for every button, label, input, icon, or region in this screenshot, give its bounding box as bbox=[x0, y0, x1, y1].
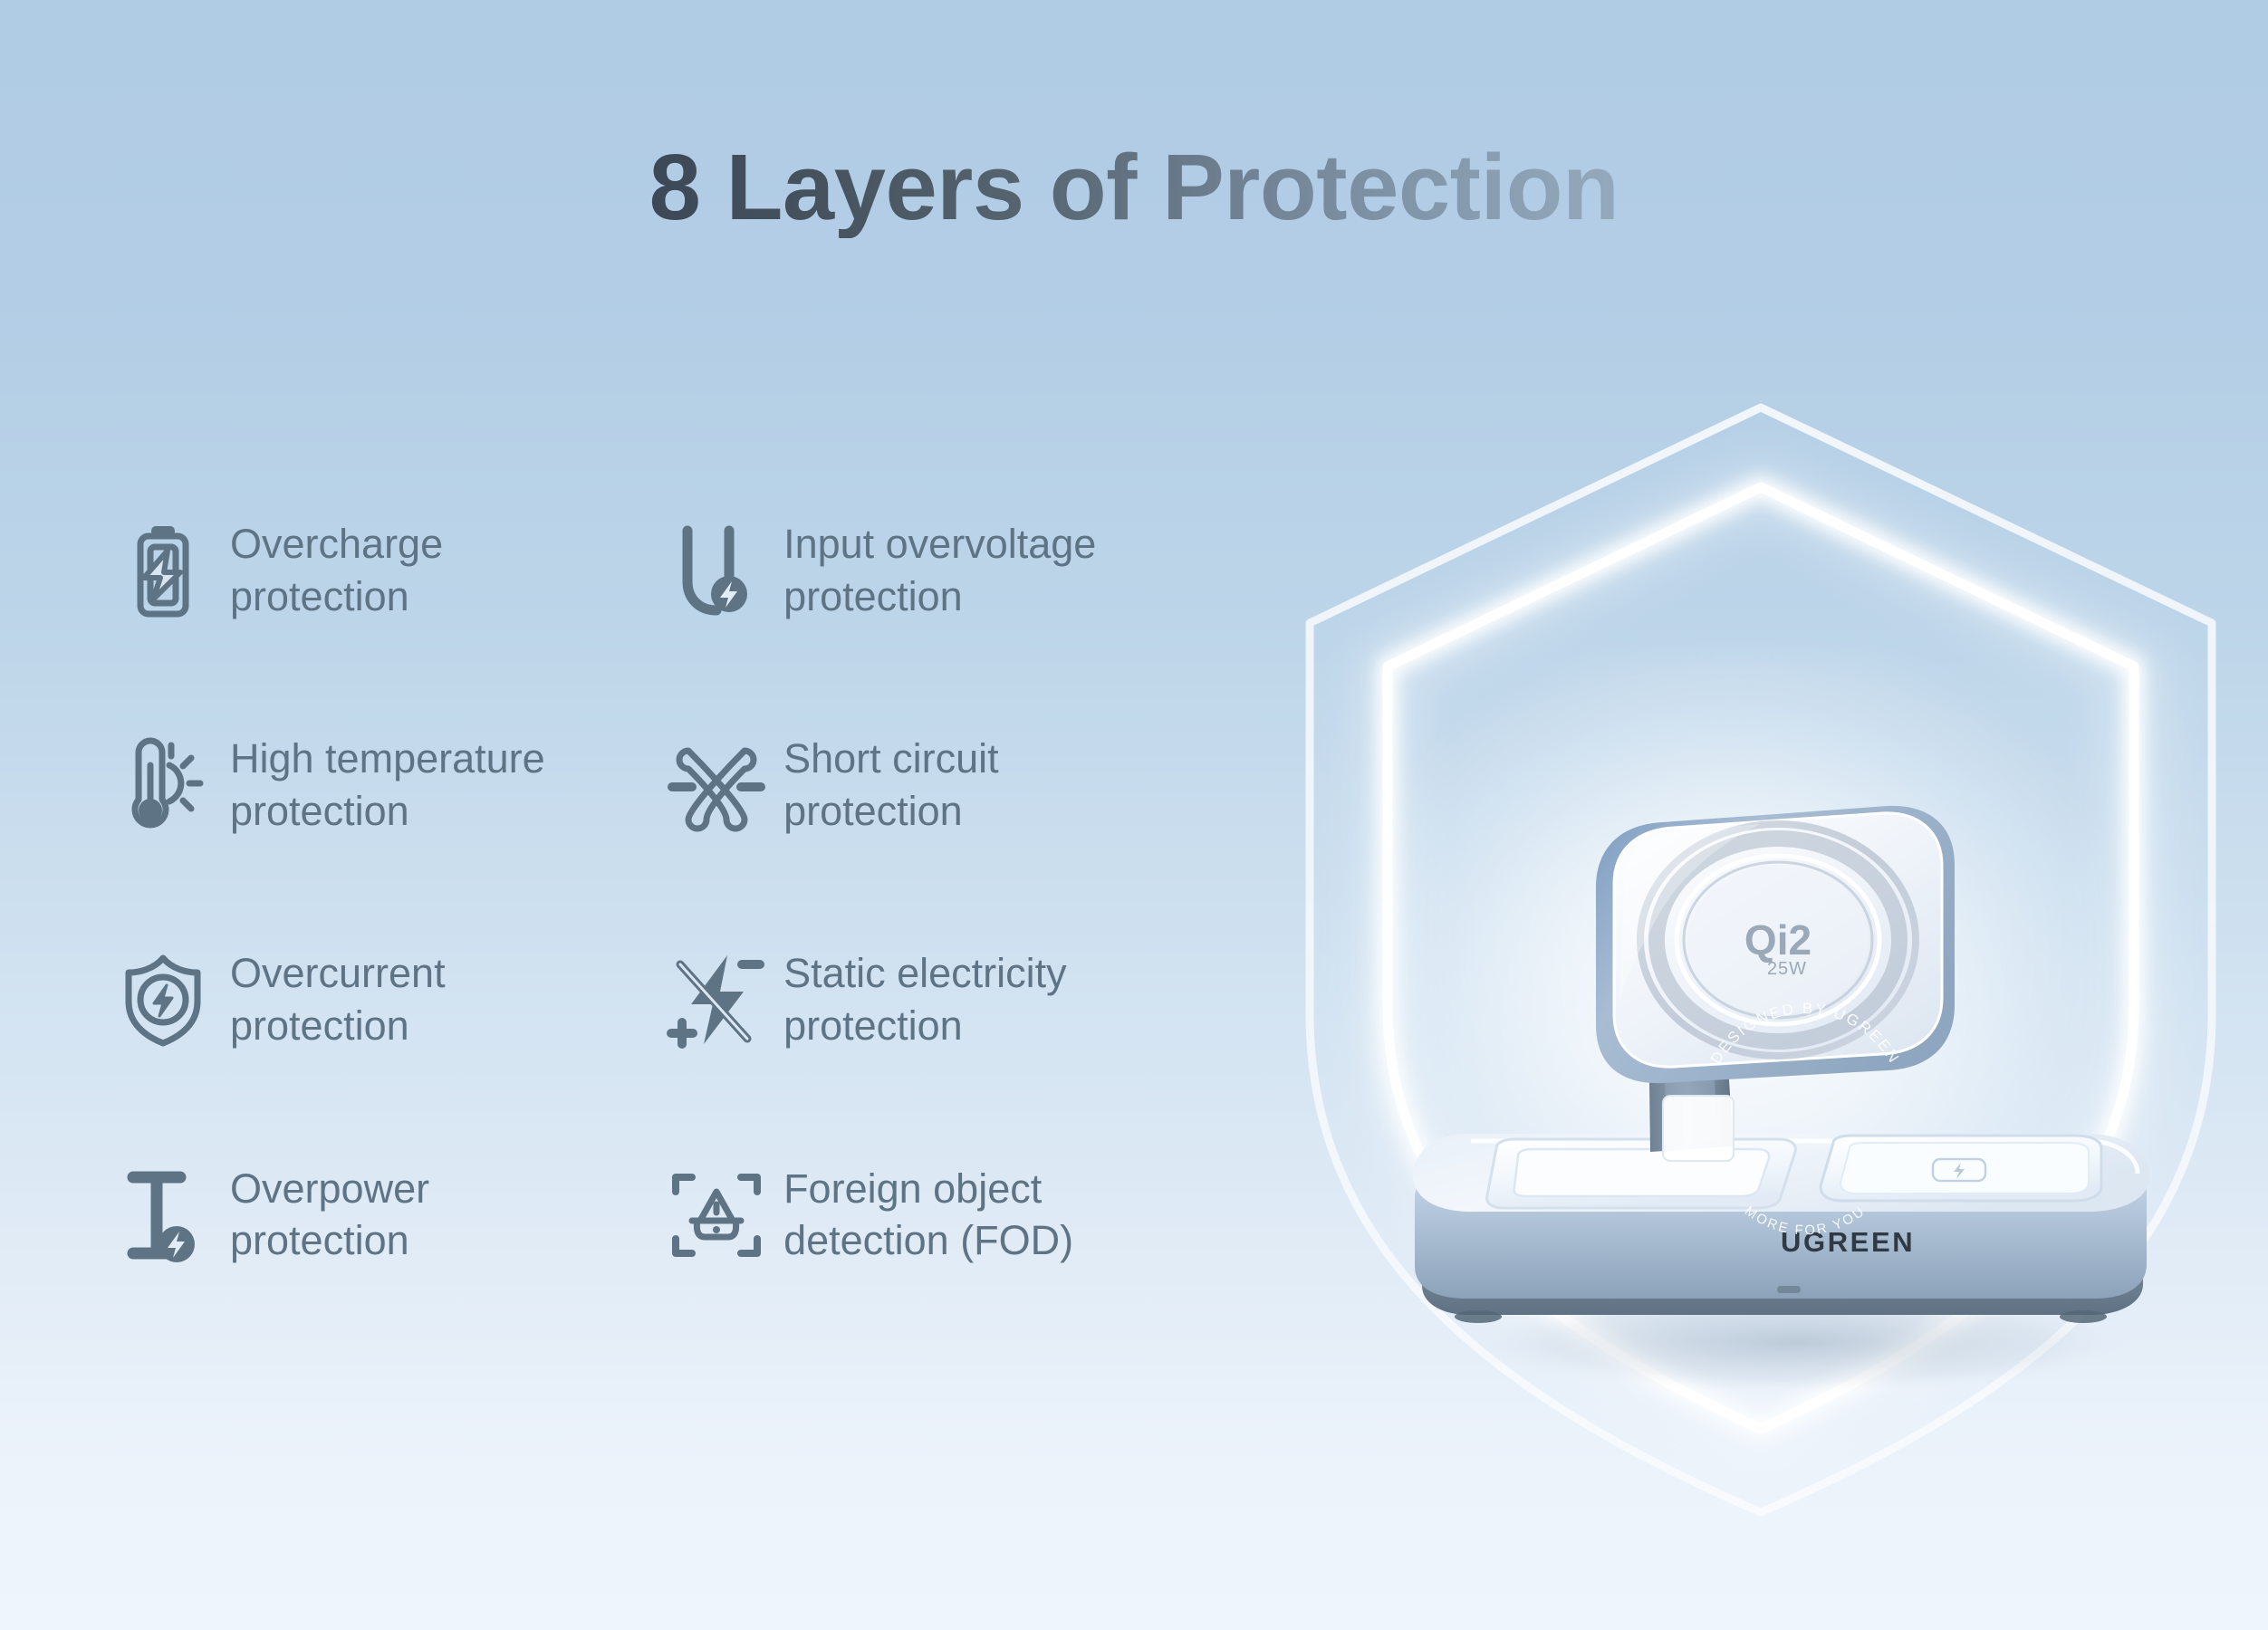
feature-item-overpower: Overpower protection bbox=[116, 1159, 669, 1267]
bolt-slash-plus-minus-icon bbox=[669, 949, 764, 1050]
feature-item-overcurrent: Overcurrent protection bbox=[116, 944, 669, 1051]
qi2-power-text: 25W bbox=[1767, 959, 1807, 979]
page-title-container: 8 Layers of Protection bbox=[0, 136, 2268, 238]
feature-row: Overpower protection bbox=[116, 1159, 1293, 1267]
feature-label: Overcurrent protection bbox=[230, 944, 446, 1051]
shield-bolt-icon bbox=[116, 949, 210, 1050]
feature-row: High temperature protection Short circui… bbox=[116, 729, 1293, 837]
feature-item-input-overvoltage: Input overvoltage protection bbox=[669, 514, 1293, 622]
feature-row: Overcurrent protection Static electricit… bbox=[116, 944, 1293, 1051]
feature-item-static-electricity: Static electricity protection bbox=[669, 944, 1293, 1051]
feature-label: Short circuit protection bbox=[783, 729, 999, 837]
product-image: UGREEN DESIGNED BY UGREEN MORE FOR YOU bbox=[1254, 380, 2268, 1576]
u-voltage-bolt-icon bbox=[669, 520, 764, 621]
thermometer-hot-icon bbox=[116, 734, 210, 836]
feature-label: Overcharge protection bbox=[230, 514, 443, 622]
crossed-wires-x-icon bbox=[669, 734, 764, 836]
feature-label: Input overvoltage protection bbox=[783, 514, 1096, 622]
qi2-standard-text: Qi2 bbox=[1744, 916, 1812, 964]
protection-features-grid: Overcharge protection Input overvoltage … bbox=[116, 514, 1293, 1267]
feature-row: Overcharge protection Input overvoltage … bbox=[116, 514, 1293, 622]
feature-item-overcharge: Overcharge protection bbox=[116, 514, 669, 622]
scan-warning-icon bbox=[669, 1165, 764, 1266]
feature-label: Static electricity protection bbox=[783, 944, 1067, 1051]
feature-item-high-temperature: High temperature protection bbox=[116, 729, 669, 837]
feature-label: Overpower protection bbox=[230, 1159, 429, 1267]
feature-label: Foreign object detection (FOD) bbox=[783, 1159, 1073, 1267]
feature-item-short-circuit: Short circuit protection bbox=[669, 729, 1293, 837]
battery-bolt-icon bbox=[116, 520, 210, 621]
product-showcase: UGREEN DESIGNED BY UGREEN MORE FOR YOU bbox=[1254, 380, 2268, 1576]
i-beam-bolt-icon bbox=[116, 1165, 210, 1266]
feature-label: High temperature protection bbox=[230, 729, 545, 837]
page-title: 8 Layers of Protection bbox=[649, 136, 1619, 238]
feature-item-foreign-object-detection: Foreign object detection (FOD) bbox=[669, 1159, 1293, 1267]
